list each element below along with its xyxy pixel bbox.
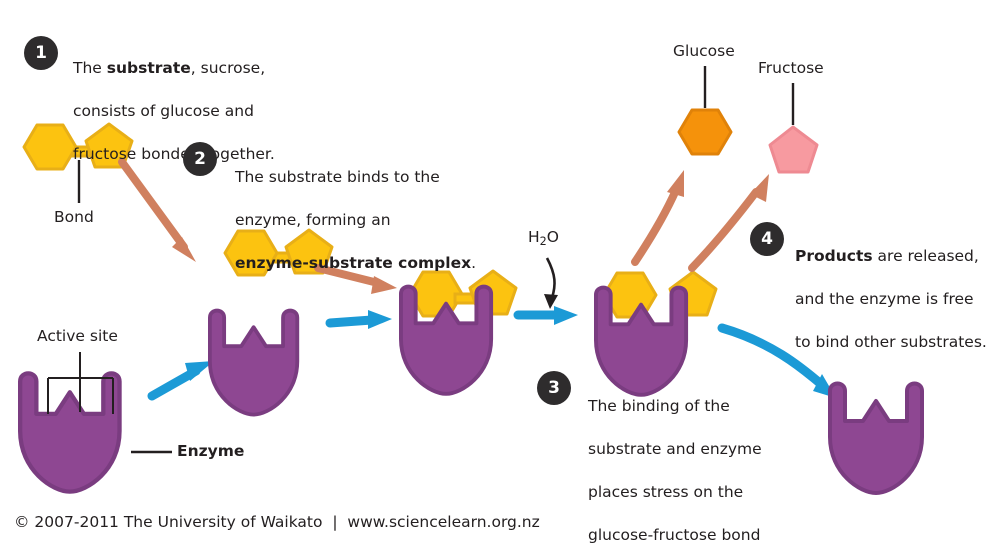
product-fructose	[770, 83, 817, 172]
step2-line3-post: .	[471, 254, 476, 272]
label-fructose: Fructose	[758, 59, 824, 77]
step1-line1-post: , sucrose,	[191, 59, 265, 77]
step2-line3-bold: enzyme-substrate complex	[235, 254, 471, 272]
step1-line2: consists of glucose and	[73, 102, 254, 120]
enzyme-free-second	[210, 311, 297, 415]
enzyme-free-initial	[20, 373, 119, 491]
step1-line1-bold: substrate	[107, 59, 191, 77]
enzyme-free-final	[830, 384, 922, 494]
step4-line2: and the enzyme is free	[795, 290, 974, 308]
step2-line2: enzyme, forming an	[235, 211, 391, 229]
copyright-notice: © 2007-2011 The University of Waikato | …	[14, 513, 540, 531]
arrow-enzyme-1-to-2	[152, 361, 214, 396]
step-badge-4: 4	[750, 222, 784, 256]
arrow-substrate-down	[122, 162, 196, 262]
water-h: H	[528, 228, 540, 246]
arrow-enzyme-2-to-complex	[330, 310, 392, 329]
step-badge-3: 3	[537, 371, 571, 405]
step1-line1-pre: The	[73, 59, 107, 77]
step-text-3: The binding of the substrate and enzyme …	[588, 374, 838, 545]
label-enzyme: Enzyme	[177, 442, 244, 460]
label-bond: Bond	[54, 208, 94, 226]
water-o: O	[547, 228, 559, 246]
step-text-4: Products are released, and the enzyme is…	[795, 224, 1000, 353]
enzyme-body-complex	[401, 287, 491, 394]
arrow-fructose-released	[692, 174, 769, 268]
step4-line1-bold: Products	[795, 247, 873, 265]
step4-line1-post: are released,	[873, 247, 979, 265]
enzyme-substrate-complex	[401, 271, 516, 394]
step3-line4: glucose-fructose bond	[588, 526, 760, 544]
step-badge-1: 1	[24, 36, 58, 70]
label-glucose: Glucose	[673, 42, 735, 60]
diagram-canvas: 1 The substrate, sucrose, consists of gl…	[0, 0, 1000, 545]
water-arrow	[544, 258, 558, 309]
step4-line3: to bind other substrates.	[795, 333, 987, 351]
label-active-site: Active site	[37, 327, 118, 345]
glucose-hexagon	[24, 125, 76, 169]
step3-line2: substrate and enzyme	[588, 440, 762, 458]
step-text-2: The substrate binds to the enzyme, formi…	[235, 145, 515, 274]
label-water: H2O	[528, 228, 559, 248]
step2-line1: The substrate binds to the	[235, 168, 440, 186]
step-badge-2: 2	[183, 142, 217, 176]
product-glucose	[679, 66, 731, 154]
arrow-glucose-released	[635, 170, 684, 262]
arrow-complex-to-broken	[518, 306, 578, 325]
step3-line3: places stress on the	[588, 483, 743, 501]
step3-line1: The binding of the	[588, 397, 730, 415]
water-2: 2	[540, 235, 547, 248]
